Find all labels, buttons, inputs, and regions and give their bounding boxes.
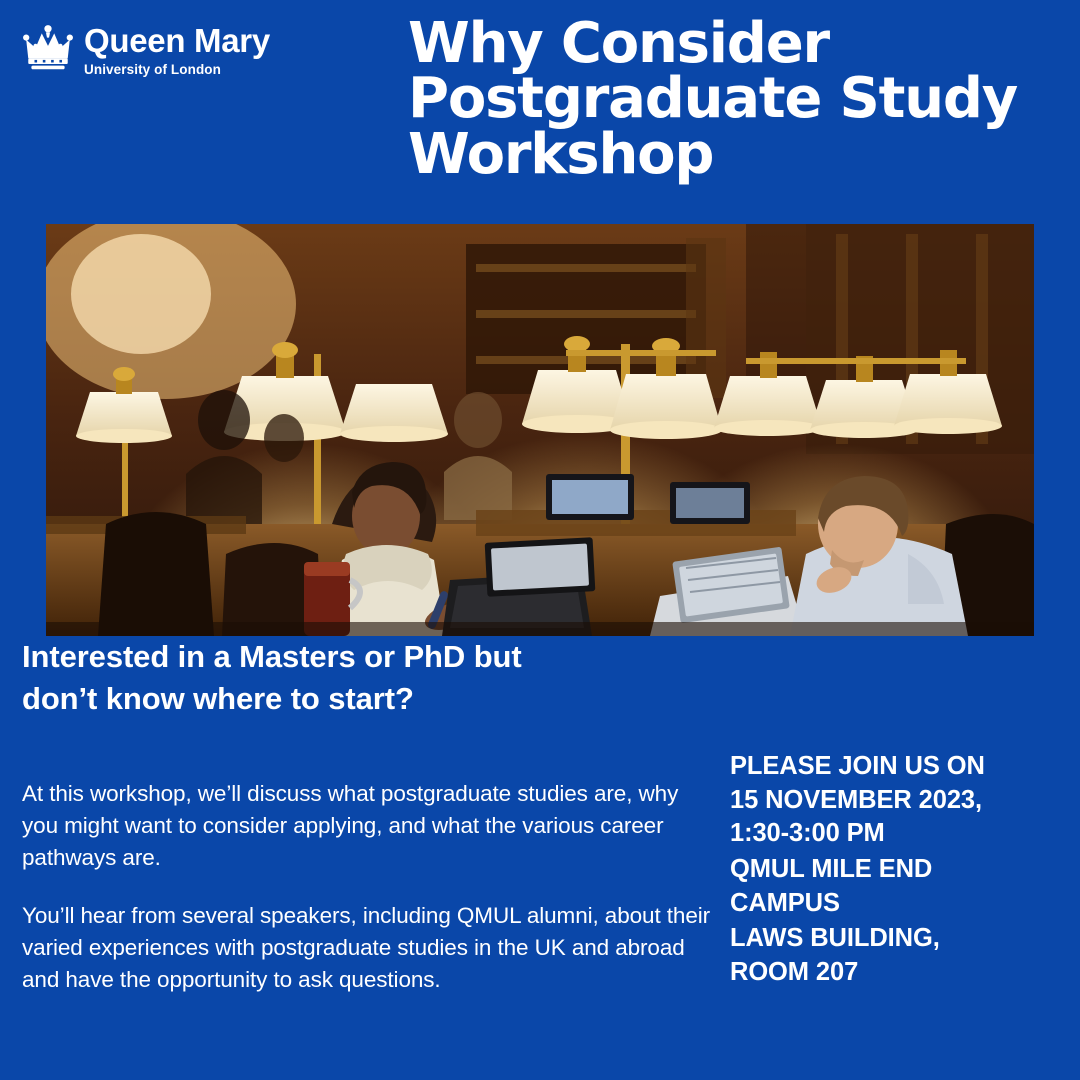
brand-logo: Queen Mary University of London bbox=[22, 18, 270, 77]
event-date: 15 NOVEMBER 2023, bbox=[730, 784, 1060, 818]
event-campus-group: QMUL MILE END CAMPUS bbox=[730, 853, 1060, 920]
event-venue-group: LAWS BUILDING, ROOM 207 bbox=[730, 922, 1060, 989]
event-campus-line-1: QMUL MILE END bbox=[730, 853, 1060, 887]
subheading-line-2: don’t know where to start? bbox=[22, 678, 762, 720]
title-line-1: Why Consider bbox=[408, 16, 1048, 71]
title-line-3: Workshop bbox=[408, 127, 1048, 182]
body-paragraph-1: At this workshop, we’ll discuss what pos… bbox=[22, 778, 712, 874]
event-campus-line-2: CAMPUS bbox=[730, 887, 1060, 921]
event-time: 1:30-3:00 PM bbox=[730, 817, 1060, 851]
body-text: At this workshop, we’ll discuss what pos… bbox=[22, 778, 712, 996]
crown-icon bbox=[22, 22, 74, 76]
brand-name: Queen Mary bbox=[84, 24, 270, 57]
event-date-group: PLEASE JOIN US ON 15 NOVEMBER 2023, 1:30… bbox=[730, 750, 1060, 851]
library-photo-illustration bbox=[46, 224, 1034, 636]
event-room: ROOM 207 bbox=[730, 956, 1060, 990]
body-paragraph-2: You’ll hear from several speakers, inclu… bbox=[22, 900, 712, 996]
title-line-2: Postgraduate Study bbox=[408, 71, 1048, 126]
event-invite-line: PLEASE JOIN US ON bbox=[730, 750, 1060, 784]
brand-subtitle: University of London bbox=[84, 63, 270, 77]
page-title: Why Consider Postgraduate Study Workshop bbox=[408, 16, 1048, 182]
subheading-line-1: Interested in a Masters or PhD but bbox=[22, 636, 762, 678]
brand-wordmark: Queen Mary University of London bbox=[84, 18, 270, 77]
event-details: PLEASE JOIN US ON 15 NOVEMBER 2023, 1:30… bbox=[730, 750, 1060, 992]
event-building: LAWS BUILDING, bbox=[730, 922, 1060, 956]
subheading: Interested in a Masters or PhD but don’t… bbox=[22, 636, 762, 720]
library-photo bbox=[46, 224, 1034, 636]
